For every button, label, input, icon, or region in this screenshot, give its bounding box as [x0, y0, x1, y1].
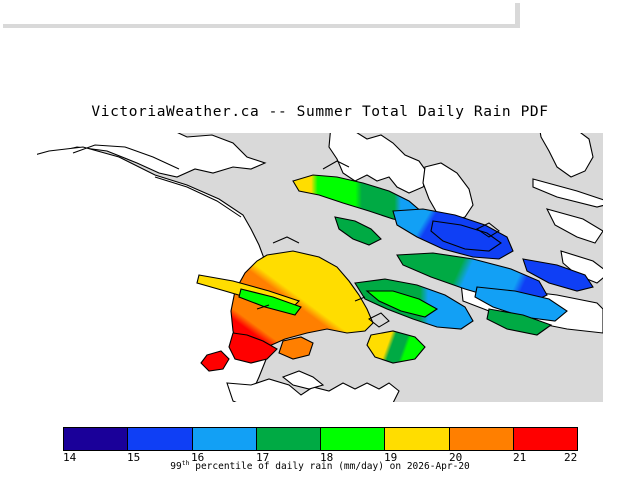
coast-east-lobe	[547, 209, 603, 243]
colorbar-caption: 99th percentile of daily rain (mm/day) o…	[0, 461, 640, 472]
coast-ne-island	[539, 133, 593, 177]
region-chain-spur[interactable]	[335, 217, 381, 245]
colorbar-shadow	[3, 24, 520, 28]
map-canvas[interactable]	[37, 133, 603, 402]
colorbar-band-21-22[interactable]	[514, 428, 577, 450]
page-title: VictoriaWeather.ca -- Summer Total Daily…	[0, 104, 640, 120]
colorbar-band-17-18[interactable]	[257, 428, 321, 450]
coast-mainland-southwest	[37, 147, 277, 402]
colorbar-band-14-15[interactable]	[64, 428, 128, 450]
weather-map-figure: VictoriaWeather.ca -- Summer Total Daily…	[0, 0, 640, 480]
colorbar-band-16-17[interactable]	[193, 428, 257, 450]
region-islet-orange[interactable]	[279, 337, 313, 359]
colorbar-band-18-19[interactable]	[321, 428, 385, 450]
map-panel[interactable]	[37, 133, 603, 402]
colorbar-band-20-21[interactable]	[450, 428, 514, 450]
coast-ne-sliver	[533, 179, 603, 207]
caption-rest: percentile of daily rain (mm/day) on 202…	[190, 461, 470, 472]
caption-prefix: 99	[170, 461, 181, 472]
colorbar[interactable]	[63, 427, 578, 451]
rain-field-regions[interactable]	[197, 175, 593, 371]
colorbar-band-19-20[interactable]	[385, 428, 449, 450]
colorbar-bands[interactable]	[63, 427, 578, 451]
colorbar-shadow-right	[515, 3, 520, 28]
colorbar-band-15-16[interactable]	[128, 428, 192, 450]
region-islet-yellow-green[interactable]	[367, 331, 425, 363]
caption-superscript: th	[182, 459, 190, 467]
